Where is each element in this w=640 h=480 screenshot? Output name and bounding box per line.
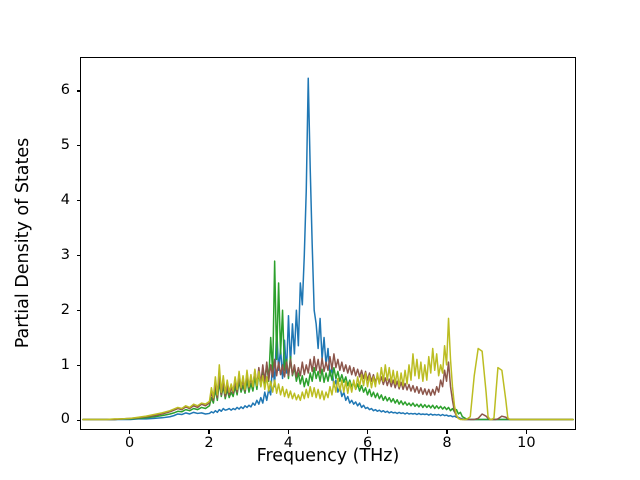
x-tick-mark	[526, 430, 527, 434]
y-tick-mark	[77, 310, 81, 311]
plot-axes	[80, 57, 576, 430]
x-tick-mark	[446, 430, 447, 434]
x-tick-label: 10	[517, 436, 535, 452]
y-tick-mark	[77, 200, 81, 201]
y-tick-mark	[77, 365, 81, 366]
x-axis-label: Frequency (THz)	[257, 446, 400, 466]
y-tick-mark	[77, 90, 81, 91]
x-tick-label: 2	[204, 436, 213, 452]
y-tick-label: 5	[61, 138, 70, 154]
series-line-3	[83, 354, 573, 420]
x-tick-label: 0	[125, 436, 134, 452]
x-tick-mark	[288, 430, 289, 434]
x-tick-mark	[208, 430, 209, 434]
y-tick-mark	[77, 420, 81, 421]
pdos-curves	[81, 58, 575, 429]
x-tick-label: 8	[442, 436, 451, 452]
y-axis-label: Partial Density of States	[13, 138, 33, 349]
x-tick-mark	[367, 430, 368, 434]
y-tick-label: 1	[61, 358, 70, 374]
pdos-figure: 0246810 0123456 Frequency (THz) Partial …	[0, 0, 640, 480]
y-tick-label: 2	[61, 303, 70, 319]
y-tick-label: 0	[61, 412, 70, 428]
y-tick-label: 6	[61, 83, 70, 99]
y-tick-mark	[77, 145, 81, 146]
y-tick-mark	[77, 255, 81, 256]
y-tick-label: 4	[61, 193, 70, 209]
y-tick-label: 3	[61, 248, 70, 264]
x-tick-mark	[129, 430, 130, 434]
